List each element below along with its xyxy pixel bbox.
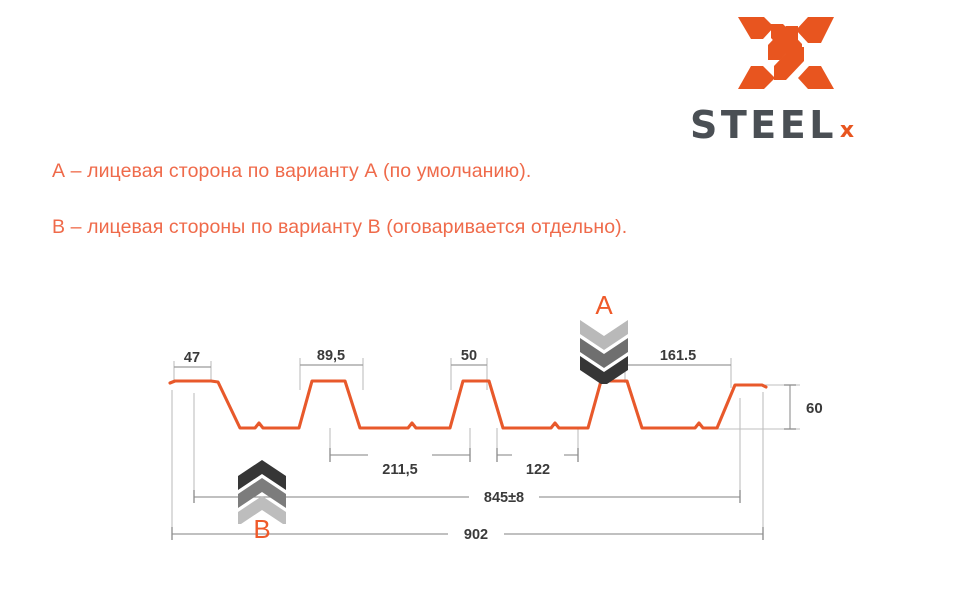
dim-902-label: 902 [464, 527, 488, 543]
page-root: STEEL x А – лицевая сторона по варианту … [0, 0, 970, 597]
dim-47-label: 47 [184, 350, 200, 366]
marker-a-label: A [578, 290, 630, 321]
sheet-profile-drawing: 47 89,5 50 161.5 60 211,5 122 845±8 902 [0, 0, 970, 597]
dim-89-5-label: 89,5 [317, 348, 345, 364]
dim-60-label: 60 [806, 400, 823, 417]
dim-161-5-label: 161.5 [660, 348, 696, 364]
dim-845-label: 845±8 [484, 490, 524, 506]
dim-50-label: 50 [461, 348, 477, 364]
marker-a-chevrons-icon [578, 318, 630, 384]
marker-b-label: B [236, 514, 288, 545]
dim-122-label: 122 [526, 462, 550, 478]
dim-211-5-label: 211,5 [382, 462, 418, 478]
sheet-profile-polyline [170, 381, 766, 428]
